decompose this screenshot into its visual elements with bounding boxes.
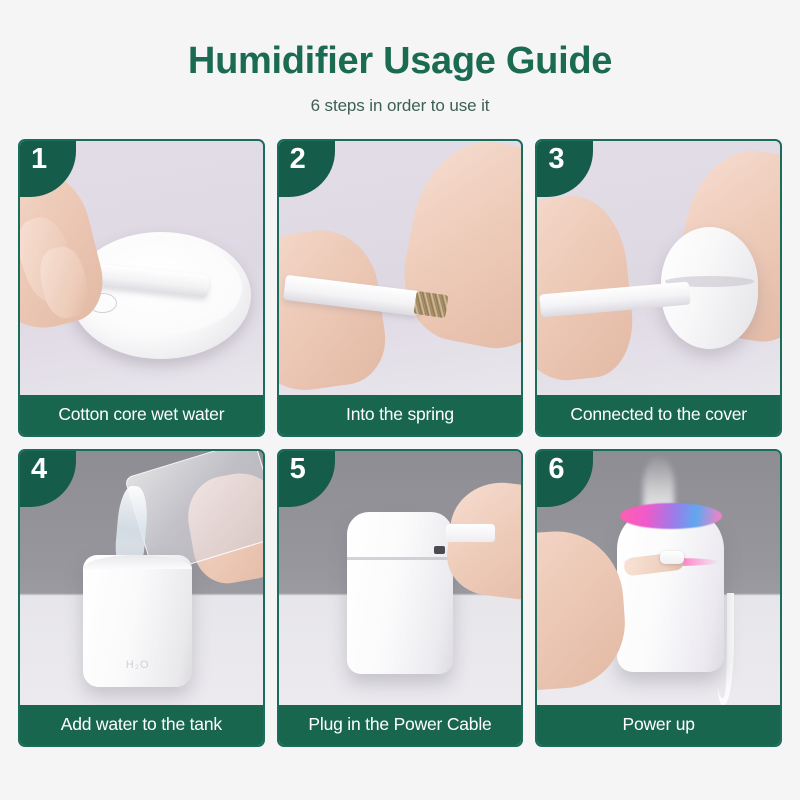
body-seam [347, 557, 454, 560]
step-card-2[interactable]: 2 Into the spring [277, 139, 524, 437]
humidifier-body-icon [617, 509, 724, 672]
header: Humidifier Usage Guide 6 steps in order … [18, 0, 782, 116]
tank-label: H₂O [83, 659, 192, 671]
power-cable-plug-icon [446, 524, 495, 542]
step-card-6[interactable]: 6 Power up [535, 449, 782, 747]
step-caption-4: Add water to the tank [20, 705, 263, 745]
power-button-icon[interactable] [660, 551, 683, 564]
step-card-5[interactable]: 5 Plug in the Power Cable [277, 449, 524, 747]
infographic-page: Humidifier Usage Guide 6 steps in order … [0, 0, 800, 800]
step-caption-3: Connected to the cover [537, 395, 780, 435]
step-photo-4: H₂O 4 [20, 451, 263, 705]
step-card-3[interactable]: 3 Connected to the cover [535, 139, 782, 437]
step-card-4[interactable]: H₂O 4 Add water to the tank [18, 449, 265, 747]
step-card-1[interactable]: 1 Cotton core wet water [18, 139, 265, 437]
page-title: Humidifier Usage Guide [18, 40, 782, 84]
usb-port-icon [434, 546, 445, 554]
page-subtitle: 6 steps in order to use it [18, 96, 782, 116]
step-photo-5: 5 [279, 451, 522, 705]
tank-rim [83, 555, 192, 570]
step-photo-2: 2 [279, 141, 522, 395]
step-caption-5: Plug in the Power Cable [279, 705, 522, 745]
water-tank-icon: H₂O [83, 555, 192, 687]
step-caption-1: Cotton core wet water [20, 395, 263, 435]
humidifier-body-icon [347, 512, 454, 675]
led-ring-icon [620, 503, 722, 529]
step-photo-6: 6 [537, 451, 780, 705]
step-caption-6: Power up [537, 705, 780, 745]
step-photo-3: 3 [537, 141, 780, 395]
spring-icon [413, 291, 447, 318]
step-photo-1: 1 [20, 141, 263, 395]
steps-grid: 1 Cotton core wet water 2 Into the sprin… [18, 139, 782, 747]
step-caption-2: Into the spring [279, 395, 522, 435]
